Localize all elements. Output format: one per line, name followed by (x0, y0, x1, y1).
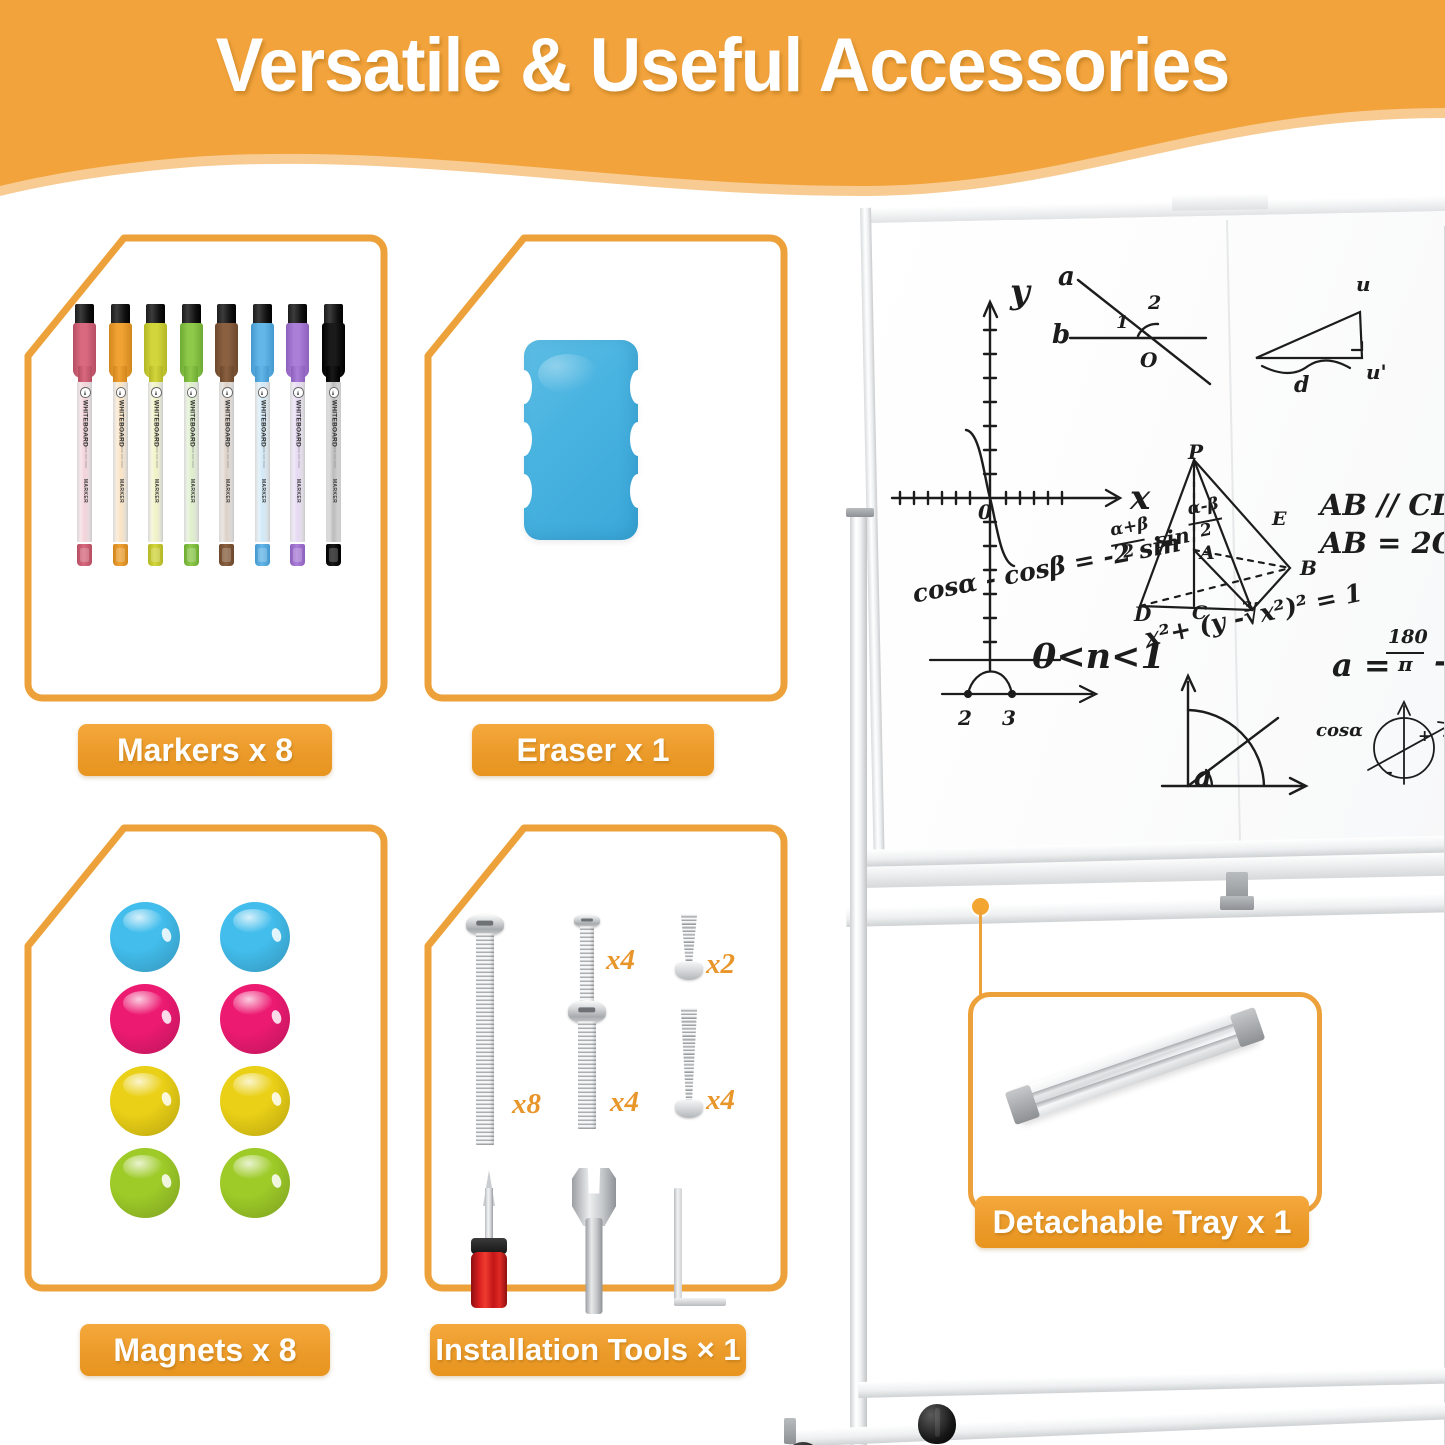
handwriting-angle-1: 1 (1116, 312, 1129, 333)
self-tapping-screw-short-icon (674, 914, 704, 992)
handwriting-origin-label: 0 (978, 500, 992, 524)
panel-magnets (22, 822, 390, 1294)
handwriting-vertex-B: B (1300, 556, 1317, 580)
panel-markers: DRY ERASE LOW ODOR NON-TOXICWHITEBOARDMA… (22, 232, 390, 704)
handwriting-angle-a: a (1194, 760, 1212, 793)
handwriting-degree-den: π (1398, 652, 1413, 676)
marker-rose: DRY ERASE LOW ODOR NON-TOXICWHITEBOARDMA… (72, 304, 97, 572)
page-title: Versatile & Useful Accessories (43, 22, 1401, 109)
self-tapping-screw-long-icon (674, 1008, 704, 1132)
detachable-tray-illustration (1010, 1009, 1259, 1123)
marker-brown: DRY ERASE LOW ODOR NON-TOXICWHITEBOARDMA… (214, 304, 239, 572)
handwriting-sign-plus: + (1418, 726, 1431, 745)
marker-end-cap (219, 544, 234, 566)
magnet-gloss (233, 1073, 273, 1097)
tray-body (1010, 1009, 1259, 1123)
marker-yellow-green: DRY ERASE LOW ODOR NON-TOXICWHITEBOARDMA… (143, 304, 168, 572)
marker-barrel: DRY ERASE LOW ODOR NON-TOXICWHITEBOARDMA… (290, 382, 305, 542)
marker-brand-text: WHITEBOARD (188, 398, 195, 450)
marker-barrel: DRY ERASE LOW ODOR NON-TOXICWHITEBOARDMA… (219, 382, 234, 542)
marker-end-cap (184, 544, 199, 566)
marker-nib-icon (258, 387, 269, 398)
qty-long-bolt: x8 (512, 1088, 541, 1121)
marker-nib-icon (329, 387, 340, 398)
marker-cap-tip (253, 304, 272, 325)
qty-tap-screw-short: x2 (706, 948, 735, 981)
marker-nib-icon (293, 387, 304, 398)
marker-sub-text: MARKER (118, 471, 124, 511)
marker-cap-tip (217, 304, 236, 325)
marker-black: DRY ERASE LOW ODOR NON-TOXICWHITEBOARDMA… (321, 304, 346, 572)
eraser-notch (516, 370, 532, 404)
label-tools: Installation Tools × 1 (430, 1324, 746, 1376)
marker-nib-icon (151, 387, 162, 398)
handwriting-sign-circle (1352, 692, 1445, 802)
magnet-specular (160, 1009, 173, 1025)
panel-eraser (422, 232, 790, 704)
handwriting-point-O: O (1140, 348, 1157, 372)
marker-brand-text: WHITEBOARD (259, 398, 266, 450)
magnet-specular (270, 1091, 283, 1107)
whiteboard-top-clip (1172, 193, 1268, 211)
handwriting-degree-num: 180 (1388, 626, 1428, 648)
infographic-canvas: Versatile & Useful Accessories DRY ERASE… (0, 0, 1445, 1445)
marker-nib-icon (80, 387, 91, 398)
base-upper-rail (858, 1367, 1445, 1398)
marker-barrel: DRY ERASE LOW ODOR NON-TOXICWHITEBOARDMA… (255, 382, 270, 542)
handwriting-y-label: y (1010, 272, 1030, 312)
eraser-notch (516, 422, 532, 456)
whiteboard-product-photo: y x 0 0<n<1 a b 1 2 O u u' d (760, 160, 1445, 1445)
marker-end-cap (113, 544, 128, 566)
magnet-yellow (220, 1066, 290, 1136)
handwriting-angle-2: 2 (1148, 292, 1161, 314)
marker-cap-tip (111, 304, 130, 325)
magnet-gloss (123, 909, 163, 933)
stand-lower-bar (846, 893, 1445, 927)
eraser-notch (630, 370, 646, 404)
handwriting-vertex-P: P (1188, 440, 1203, 464)
handwriting-number-line (920, 646, 1140, 736)
marker-end-cap (290, 544, 305, 566)
handwriting-numline-3: 3 (1002, 706, 1016, 730)
marker-sub-text: MARKER (260, 471, 266, 511)
marker-brand-text: WHITEBOARD (153, 398, 160, 450)
marker-end-cap (255, 544, 270, 566)
marker-sub-text: MARKER (189, 471, 195, 511)
panel-tools: x8 x4 x2 x4 x4 (422, 822, 790, 1294)
marker-blue: DRY ERASE LOW ODOR NON-TOXICWHITEBOARDMA… (250, 304, 275, 572)
handwriting-vertex-E: E (1272, 508, 1286, 530)
eraser-illustration (524, 340, 638, 540)
marker-brand-text: WHITEBOARD (224, 398, 231, 450)
magnet-blue (110, 902, 180, 972)
markers-group: DRY ERASE LOW ODOR NON-TOXICWHITEBOARDMA… (72, 304, 352, 574)
magnet-gloss (123, 1073, 163, 1097)
whiteboard-pivot-base (1220, 896, 1254, 910)
allen-key-icon (674, 1188, 728, 1316)
marker-green: DRY ERASE LOW ODOR NON-TOXICWHITEBOARDMA… (179, 304, 204, 572)
handwriting-eq-parallel: AB // CD (1320, 488, 1445, 522)
marker-brand-text: WHITEBOARD (330, 398, 337, 450)
magnet-specular (270, 1009, 283, 1025)
marker-brand-text: WHITEBOARD (295, 398, 302, 450)
marker-sub-text: MARKER (331, 471, 337, 511)
long-bolt-icon (466, 914, 504, 1146)
magnet-blue (220, 902, 290, 972)
qty-tap-screw-long: x4 (706, 1084, 735, 1117)
open-end-wrench-icon (572, 1168, 616, 1316)
marker-sub-text: MARKER (82, 471, 88, 511)
qty-medium-bolt: x4 (610, 1086, 639, 1119)
marker-barrel: DRY ERASE LOW ODOR NON-TOXICWHITEBOARDMA… (184, 382, 199, 542)
marker-cap-tip (146, 304, 165, 325)
marker-barrel: DRY ERASE LOW ODOR NON-TOXICWHITEBOARDMA… (326, 382, 341, 542)
marker-nib-icon (116, 387, 127, 398)
marker-nib-icon (222, 387, 233, 398)
handwriting-vector-u: u (1356, 272, 1371, 296)
handwriting-cos-alpha: cosα (1316, 720, 1363, 741)
magnet-green (110, 1148, 180, 1218)
handwriting-sign-minus: - (1386, 762, 1393, 781)
magnet-green (220, 1148, 290, 1218)
base-rail-endcap (784, 1418, 796, 1444)
handwriting-length-d: d (1294, 372, 1309, 398)
callout-box-tray (968, 992, 1322, 1214)
handwriting-line-a: a (1058, 262, 1075, 292)
magnet-specular (160, 1091, 173, 1107)
handwriting-eq-ratio: AB = 2CD (1320, 526, 1445, 560)
callout-leader-line (979, 910, 982, 996)
label-eraser: Eraser x 1 (472, 724, 714, 776)
handwriting-vector-up: u' (1366, 360, 1387, 384)
magnet-specular (270, 927, 283, 943)
magnet-specular (160, 927, 173, 943)
handwriting-vertex-A: A (1200, 542, 1215, 564)
tools-illustration: x8 x4 x2 x4 x4 (422, 822, 790, 1294)
handwriting-degree-lhs: a = (1332, 646, 1391, 684)
magnets-group (110, 902, 310, 1232)
label-markers: Markers x 8 (78, 724, 332, 776)
marker-barrel: DRY ERASE LOW ODOR NON-TOXICWHITEBOARDMA… (77, 382, 92, 542)
medium-bolt-icon (568, 1000, 606, 1132)
magnet-gloss (233, 909, 273, 933)
magnet-magenta (110, 984, 180, 1054)
magnet-gloss (123, 991, 163, 1015)
magnet-magenta (220, 984, 290, 1054)
caster-wheel-right (918, 1404, 956, 1444)
marker-barrel: DRY ERASE LOW ODOR NON-TOXICWHITEBOARDMA… (113, 382, 128, 542)
qty-short-bolt: x4 (606, 944, 635, 977)
marker-barrel: DRY ERASE LOW ODOR NON-TOXICWHITEBOARDMA… (148, 382, 163, 542)
tray-groove (1022, 1029, 1252, 1112)
eraser-notch (630, 422, 646, 456)
marker-cap-tip (75, 304, 94, 325)
tray-groove (1018, 1019, 1248, 1102)
magnet-yellow (110, 1066, 180, 1136)
marker-brand-text: WHITEBOARD (82, 398, 89, 450)
stand-left-post (850, 510, 867, 1445)
stand-left-post-cap (846, 508, 874, 517)
handwriting-line-b: b (1052, 320, 1070, 350)
phillips-screwdriver-icon (466, 1170, 512, 1290)
marker-end-cap (77, 544, 92, 566)
eraser-notch (630, 474, 646, 508)
label-detachable-tray: Detachable Tray x 1 (975, 1196, 1309, 1248)
marker-end-cap (326, 544, 341, 566)
marker-cap-tip (324, 304, 343, 325)
marker-sub-text: MARKER (224, 471, 230, 511)
base-lower-rail (788, 1402, 1445, 1445)
magnet-gloss (123, 1155, 163, 1179)
marker-cap-tip (182, 304, 201, 325)
magnet-specular (160, 1173, 173, 1189)
magnet-gloss (233, 1155, 273, 1179)
label-magnets: Magnets x 8 (80, 1324, 330, 1376)
marker-sub-text: MARKER (295, 471, 301, 511)
handwriting-angle-arc-diagram (1154, 660, 1334, 808)
marker-cap-tip (288, 304, 307, 325)
handwriting-triangle-diagram (1252, 280, 1442, 420)
magnet-specular (270, 1173, 283, 1189)
marker-purple: DRY ERASE LOW ODOR NON-TOXICWHITEBOARDMA… (285, 304, 310, 572)
eraser-notch (516, 474, 532, 508)
marker-brand-text: WHITEBOARD (117, 398, 124, 450)
magnet-gloss (233, 991, 273, 1015)
handwriting-numline-2: 2 (958, 706, 972, 730)
marker-sub-text: MARKER (153, 471, 159, 511)
marker-end-cap (148, 544, 163, 566)
marker-orange: DRY ERASE LOW ODOR NON-TOXICWHITEBOARDMA… (108, 304, 133, 572)
eraser-highlight (538, 354, 598, 394)
marker-nib-icon (187, 387, 198, 398)
